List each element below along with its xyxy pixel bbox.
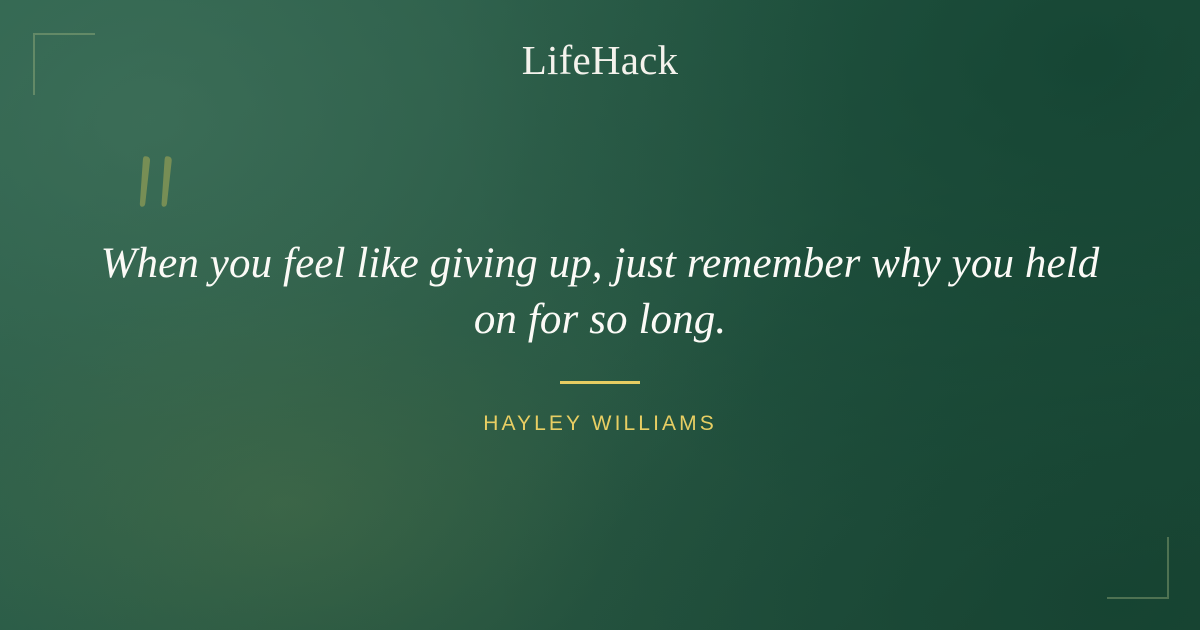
quote-author: HAYLEY WILLIAMS (483, 412, 717, 436)
brand-logo-text: LifeHack (522, 40, 678, 81)
brand-logo: LifeHack (0, 40, 1200, 81)
attribution-container: HAYLEY WILLIAMS (0, 412, 1200, 436)
gold-divider (560, 381, 640, 384)
quote-card: LifeHack When you feel like giving up, j… (0, 0, 1200, 630)
quote-mark-icon (128, 150, 188, 210)
divider-container (0, 381, 1200, 399)
quote-block: When you feel like giving up, just remem… (100, 236, 1100, 348)
quote-text: When you feel like giving up, just remem… (100, 236, 1100, 348)
corner-bracket-icon-bottom-right (1107, 537, 1169, 599)
